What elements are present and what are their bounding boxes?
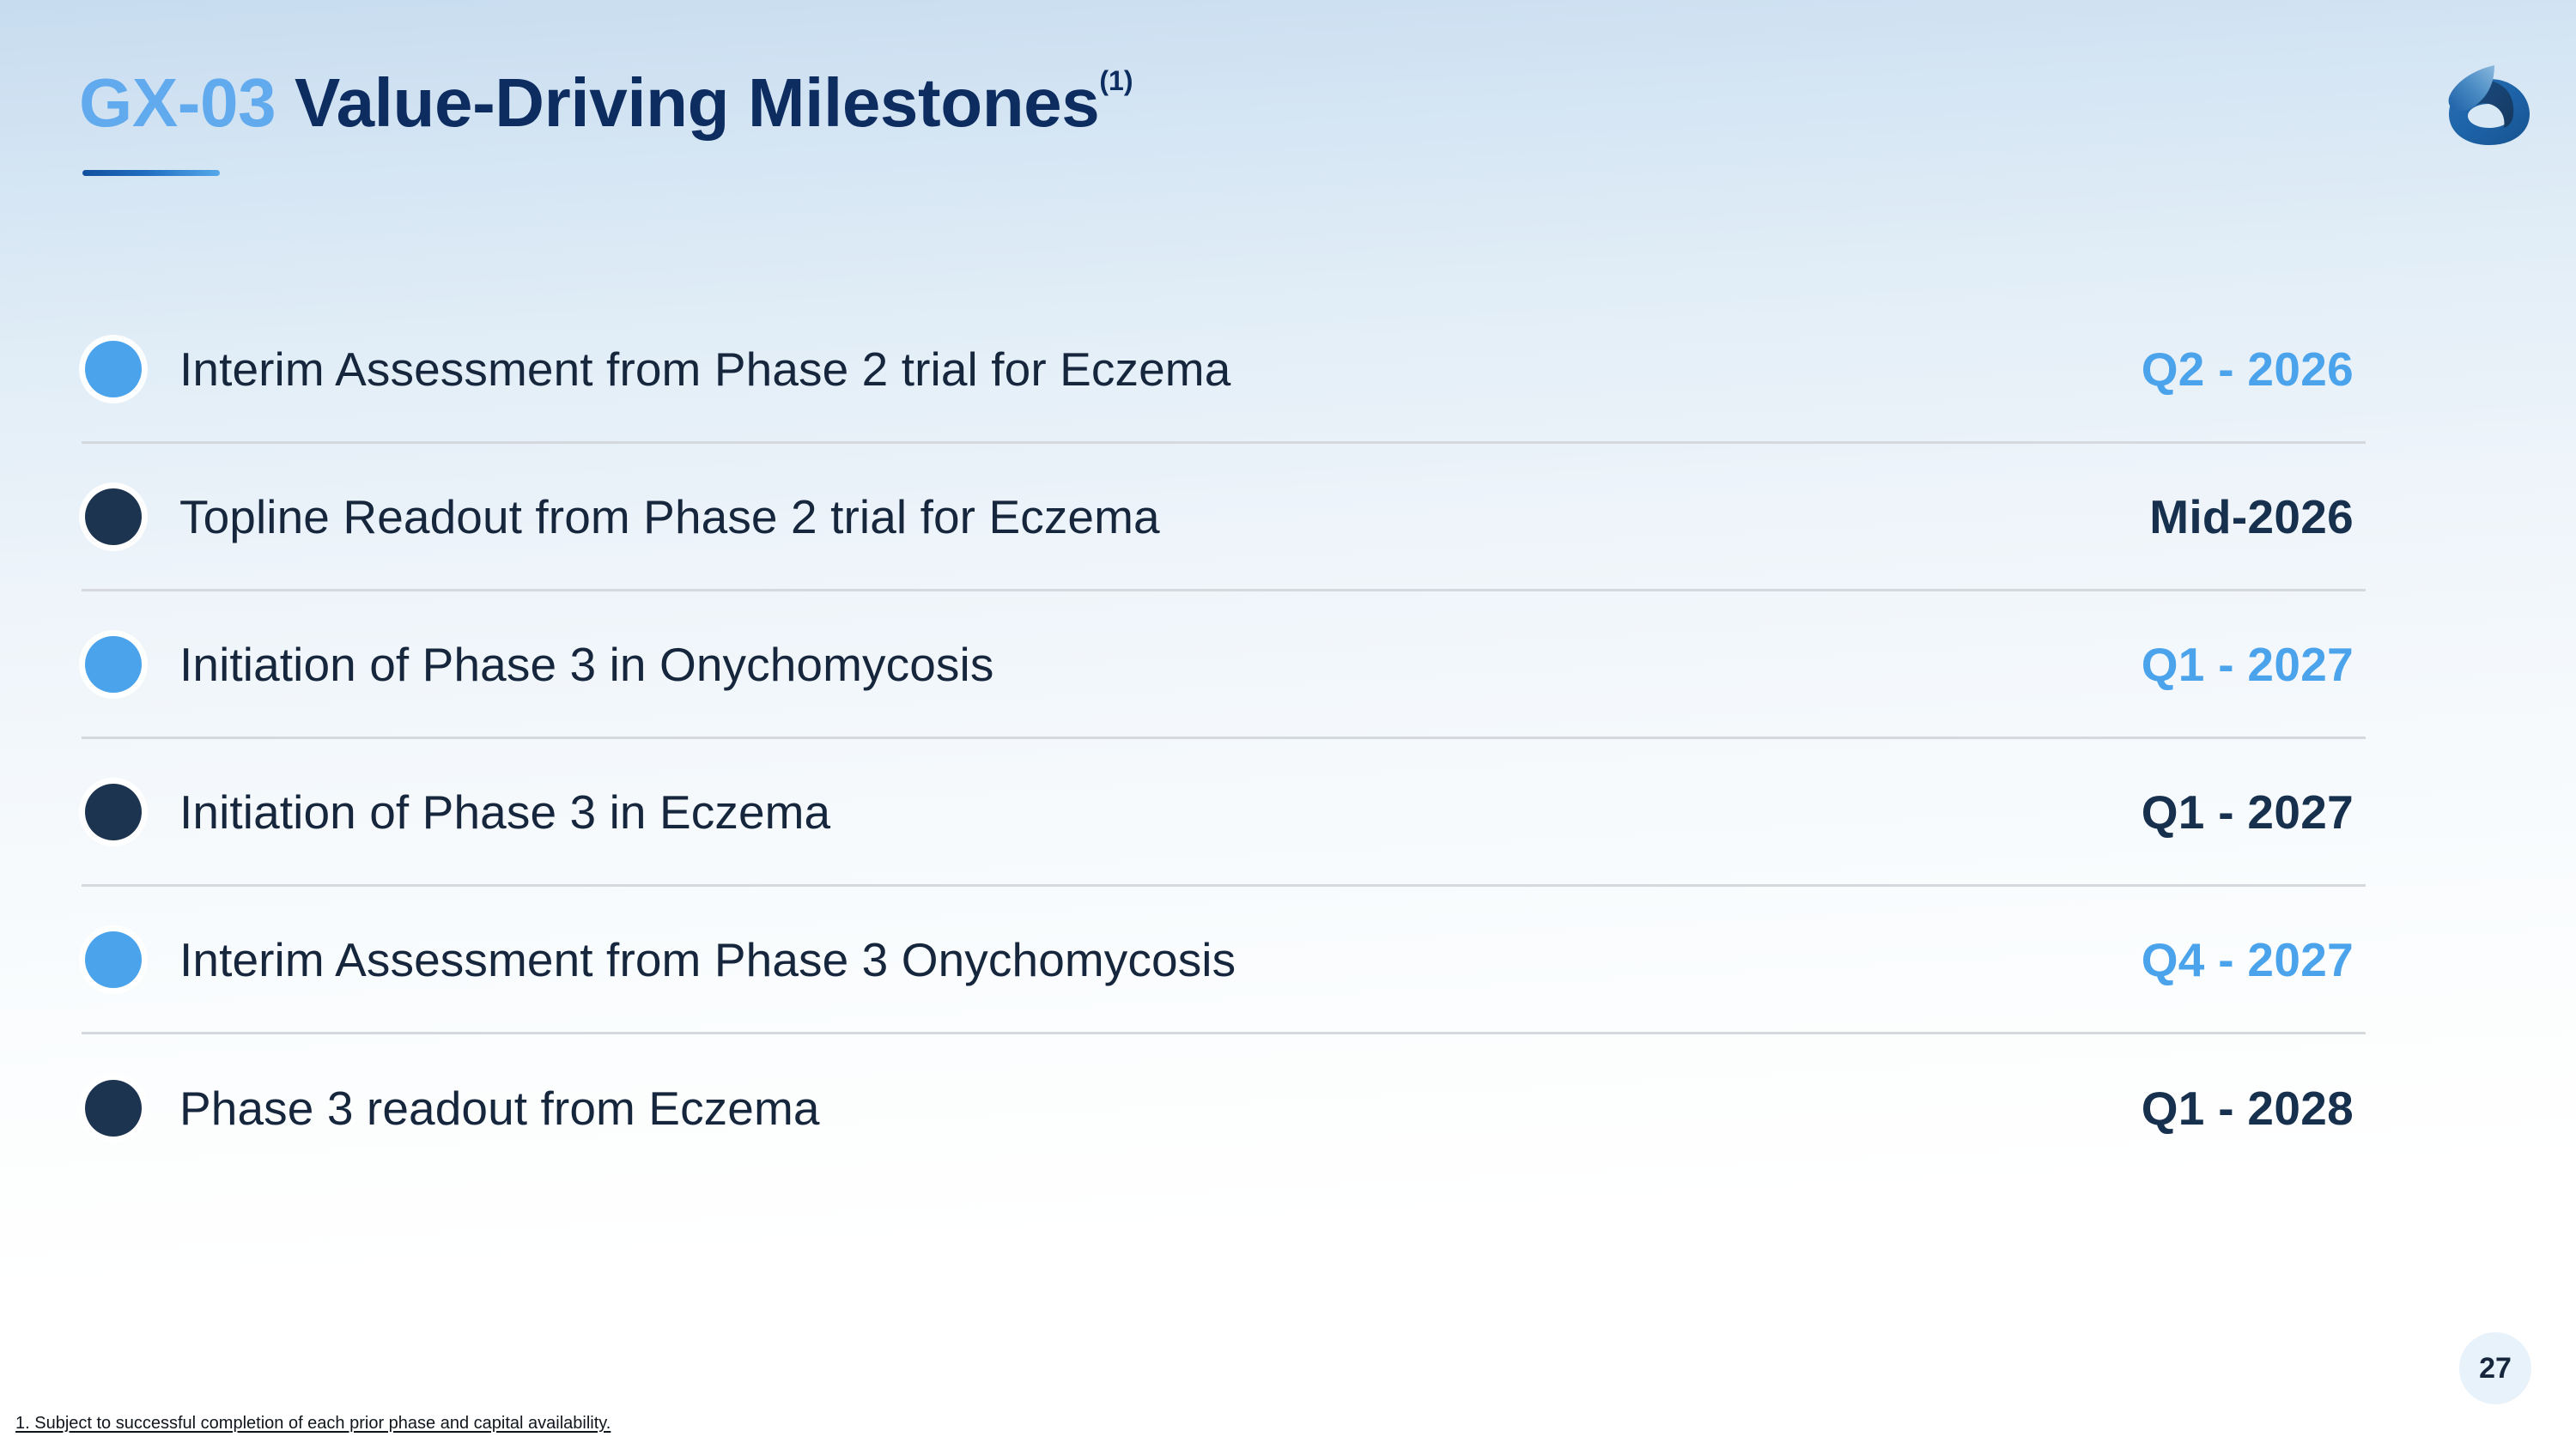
table-row: Interim Assessment from Phase 3 Onychomy… [82,887,2366,1034]
milestone-date: Q1 - 2027 [2142,785,2366,840]
table-row: Topline Readout from Phase 2 trial for E… [82,444,2366,591]
milestone-marker-icon [85,636,142,693]
milestone-label: Phase 3 readout from Eczema [179,1081,2142,1136]
table-row: Initiation of Phase 3 in Eczema Q1 - 202… [82,739,2366,887]
milestone-label: Interim Assessment from Phase 3 Onychomy… [179,932,2142,987]
slide-root: GX-03 Value-Driving Milestones(1) [0,0,2576,1449]
milestone-marker-icon [85,341,142,397]
table-row: Phase 3 readout from Eczema Q1 - 2028 [82,1034,2366,1182]
title-accent-bar [82,170,220,176]
milestone-label: Interim Assessment from Phase 2 trial fo… [179,342,2142,397]
slide-header: GX-03 Value-Driving Milestones(1) [79,67,2397,176]
title-footnote-marker: (1) [1099,65,1133,96]
table-row: Initiation of Phase 3 in Onychomycosis Q… [82,591,2366,739]
milestone-label: Initiation of Phase 3 in Onychomycosis [179,637,2142,692]
page-number-badge: 27 [2459,1332,2531,1404]
milestone-label: Initiation of Phase 3 in Eczema [179,785,2142,840]
milestone-marker-icon [85,931,142,988]
title-spacer [276,64,295,141]
milestone-date: Q1 - 2027 [2142,637,2366,692]
milestone-date: Mid-2026 [2149,489,2366,544]
footnote-text: 1. Subject to successful completion of e… [15,1414,611,1434]
milestone-date: Q2 - 2026 [2142,342,2366,397]
title-main-text: Value-Driving Milestones [295,64,1099,141]
title-accent-text: GX-03 [79,64,276,141]
milestone-date: Q4 - 2027 [2142,932,2366,987]
milestone-marker-icon [85,784,142,840]
milestone-marker-icon [85,1080,142,1137]
table-row: Interim Assessment from Phase 2 trial fo… [82,296,2366,444]
milestone-list: Interim Assessment from Phase 2 trial fo… [82,296,2366,1182]
milestone-label: Topline Readout from Phase 2 trial for E… [179,489,2149,544]
droplet-ribbon-logo [2433,43,2545,155]
milestone-date: Q1 - 2028 [2142,1081,2366,1136]
milestone-marker-icon [85,488,142,545]
page-title: GX-03 Value-Driving Milestones(1) [79,67,2397,139]
